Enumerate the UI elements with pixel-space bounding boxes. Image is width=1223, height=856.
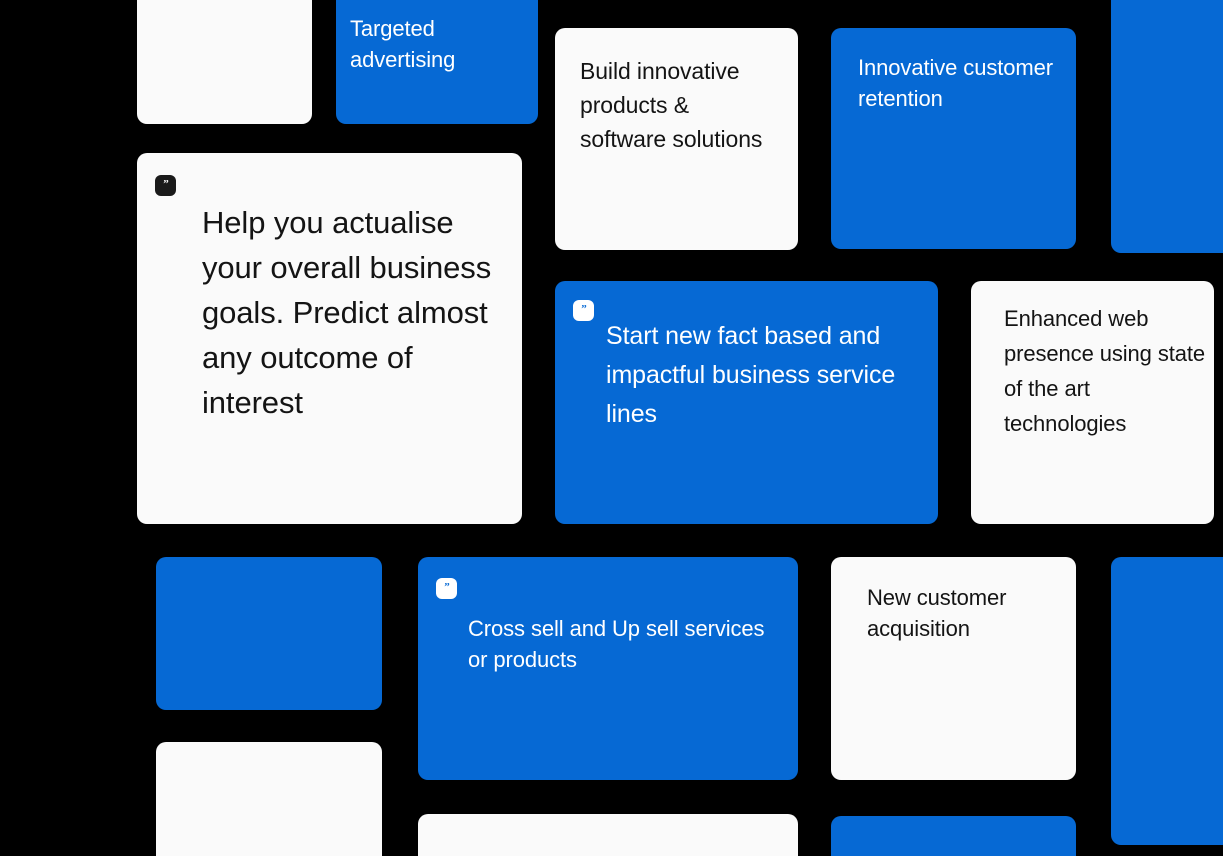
quote-glyph: ”: [163, 179, 168, 190]
card-blank-right-row4[interactable]: [831, 816, 1076, 856]
card-start-new-fact-based[interactable]: ” Start new fact based and impactful bus…: [555, 281, 938, 524]
card-blank-center-row4[interactable]: [418, 814, 798, 856]
quote-glyph: ”: [444, 582, 449, 593]
card-blank-left-row3[interactable]: [156, 557, 382, 710]
card-blank-left-row4[interactable]: [156, 742, 382, 856]
card-grid-canvas: Targeted advertising Build innovative pr…: [0, 0, 1223, 856]
card-cross-sell-up-sell[interactable]: ” Cross sell and Up sell services or pro…: [418, 557, 798, 780]
card-title: New customer acquisition: [867, 582, 1067, 644]
card-blank-right-row3[interactable]: [1111, 557, 1223, 845]
quote-icon: ”: [436, 578, 457, 599]
card-title: Build innovative products & software sol…: [580, 54, 780, 156]
card-innovative-customer-retention[interactable]: Innovative customer retention: [831, 28, 1076, 249]
card-title: Start new fact based and impactful busin…: [606, 317, 906, 434]
card-targeted-advertising[interactable]: Targeted advertising: [336, 0, 538, 124]
card-title: Enhanced web presence using state of the…: [1004, 301, 1209, 441]
card-title: Cross sell and Up sell services or produ…: [468, 613, 773, 675]
card-blank-top-right[interactable]: [1111, 0, 1223, 253]
quote-glyph: ”: [581, 304, 586, 315]
card-title: Innovative customer retention: [858, 52, 1063, 114]
card-title: Targeted advertising: [350, 13, 525, 75]
card-help-you-actualise[interactable]: ” Help you actualise your overall busine…: [137, 153, 522, 524]
card-new-customer-acquisition[interactable]: New customer acquisition: [831, 557, 1076, 780]
card-build-innovative-products[interactable]: Build innovative products & software sol…: [555, 28, 798, 250]
card-enhanced-web-presence[interactable]: Enhanced web presence using state of the…: [971, 281, 1214, 524]
quote-icon: ”: [573, 300, 594, 321]
card-blank-top-left[interactable]: [137, 0, 312, 124]
quote-icon: ”: [155, 175, 176, 196]
card-title: Help you actualise your overall business…: [202, 200, 497, 425]
